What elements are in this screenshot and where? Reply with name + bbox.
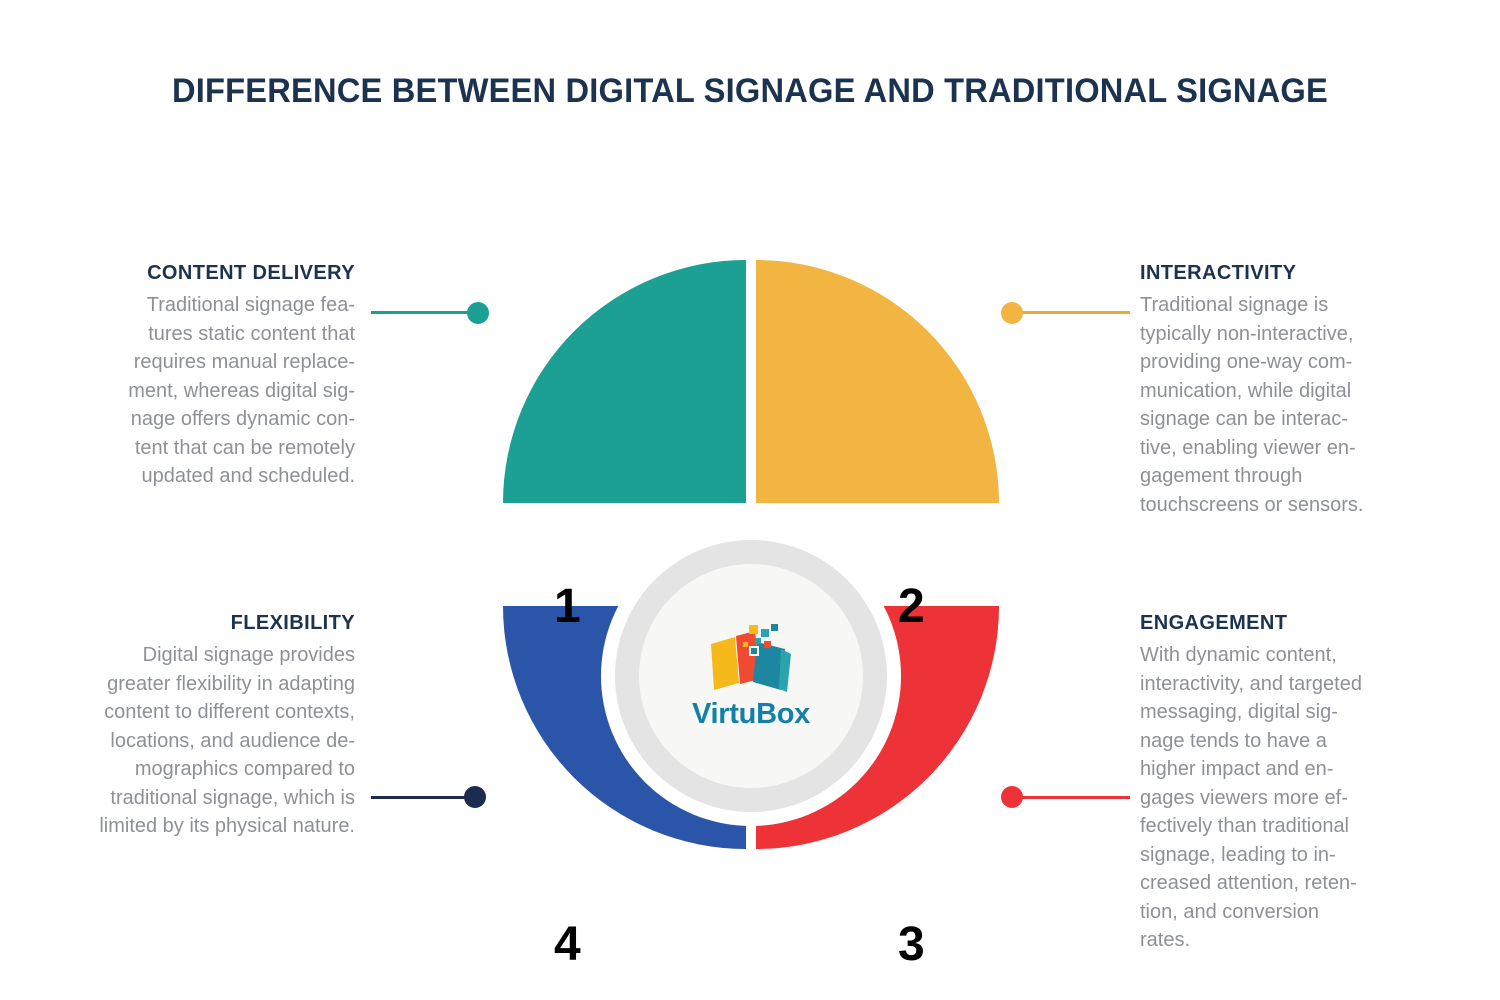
quadrant-text-engagement: ENGAGEMENT With dynamic content, interac… xyxy=(1140,612,1440,955)
infographic-page: DIFFERENCE BETWEEN DIGITAL SIGNAGE AND T… xyxy=(0,0,1500,1000)
sector-1-body[interactable] xyxy=(503,260,746,503)
connector-line-1 xyxy=(371,311,481,314)
quadrant-2-heading: INTERACTIVITY xyxy=(1140,262,1440,285)
sector-1-number: 1 xyxy=(554,583,581,631)
page-title: DIFFERENCE BETWEEN DIGITAL SIGNAGE AND T… xyxy=(30,72,1470,111)
connector-line-3 xyxy=(1020,796,1130,799)
sector-4-number: 4 xyxy=(554,921,581,969)
center-hub[interactable]: VirtuBox xyxy=(615,540,887,812)
circular-diagram: 1 2 3 4 xyxy=(430,240,1070,900)
quadrant-2-body: Traditional signage is typically non-int… xyxy=(1140,291,1440,519)
connector-dot-3[interactable] xyxy=(1001,786,1023,808)
quadrant-text-interactivity: INTERACTIVITY Traditional signage is typ… xyxy=(1140,262,1440,519)
sector-2-body[interactable] xyxy=(756,260,999,503)
quadrant-1-body: Traditional signage fea- tures static co… xyxy=(55,291,355,491)
connector-dot-4[interactable] xyxy=(464,786,486,808)
sector-2-number: 2 xyxy=(898,583,925,631)
center-hub-inner: VirtuBox xyxy=(639,564,863,788)
brand-name: VirtuBox xyxy=(692,698,810,731)
quadrant-text-flexibility: FLEXIBILITY Digital signage provides gre… xyxy=(55,612,355,841)
connector-line-2 xyxy=(1020,311,1130,314)
quadrant-4-heading: FLEXIBILITY xyxy=(55,612,355,635)
connector-dot-2[interactable] xyxy=(1001,302,1023,324)
virtubox-logo-icon xyxy=(705,622,797,694)
quadrant-4-body: Digital signage provides greater flexibi… xyxy=(55,641,355,841)
quadrant-text-content-delivery: CONTENT DELIVERY Traditional signage fea… xyxy=(55,262,355,491)
quadrant-1-heading: CONTENT DELIVERY xyxy=(55,262,355,285)
sector-3-number: 3 xyxy=(898,921,925,969)
connector-dot-1[interactable] xyxy=(467,302,489,324)
quadrant-3-heading: ENGAGEMENT xyxy=(1140,612,1440,635)
quadrant-3-body: With dynamic content, interactivity, and… xyxy=(1140,641,1440,955)
